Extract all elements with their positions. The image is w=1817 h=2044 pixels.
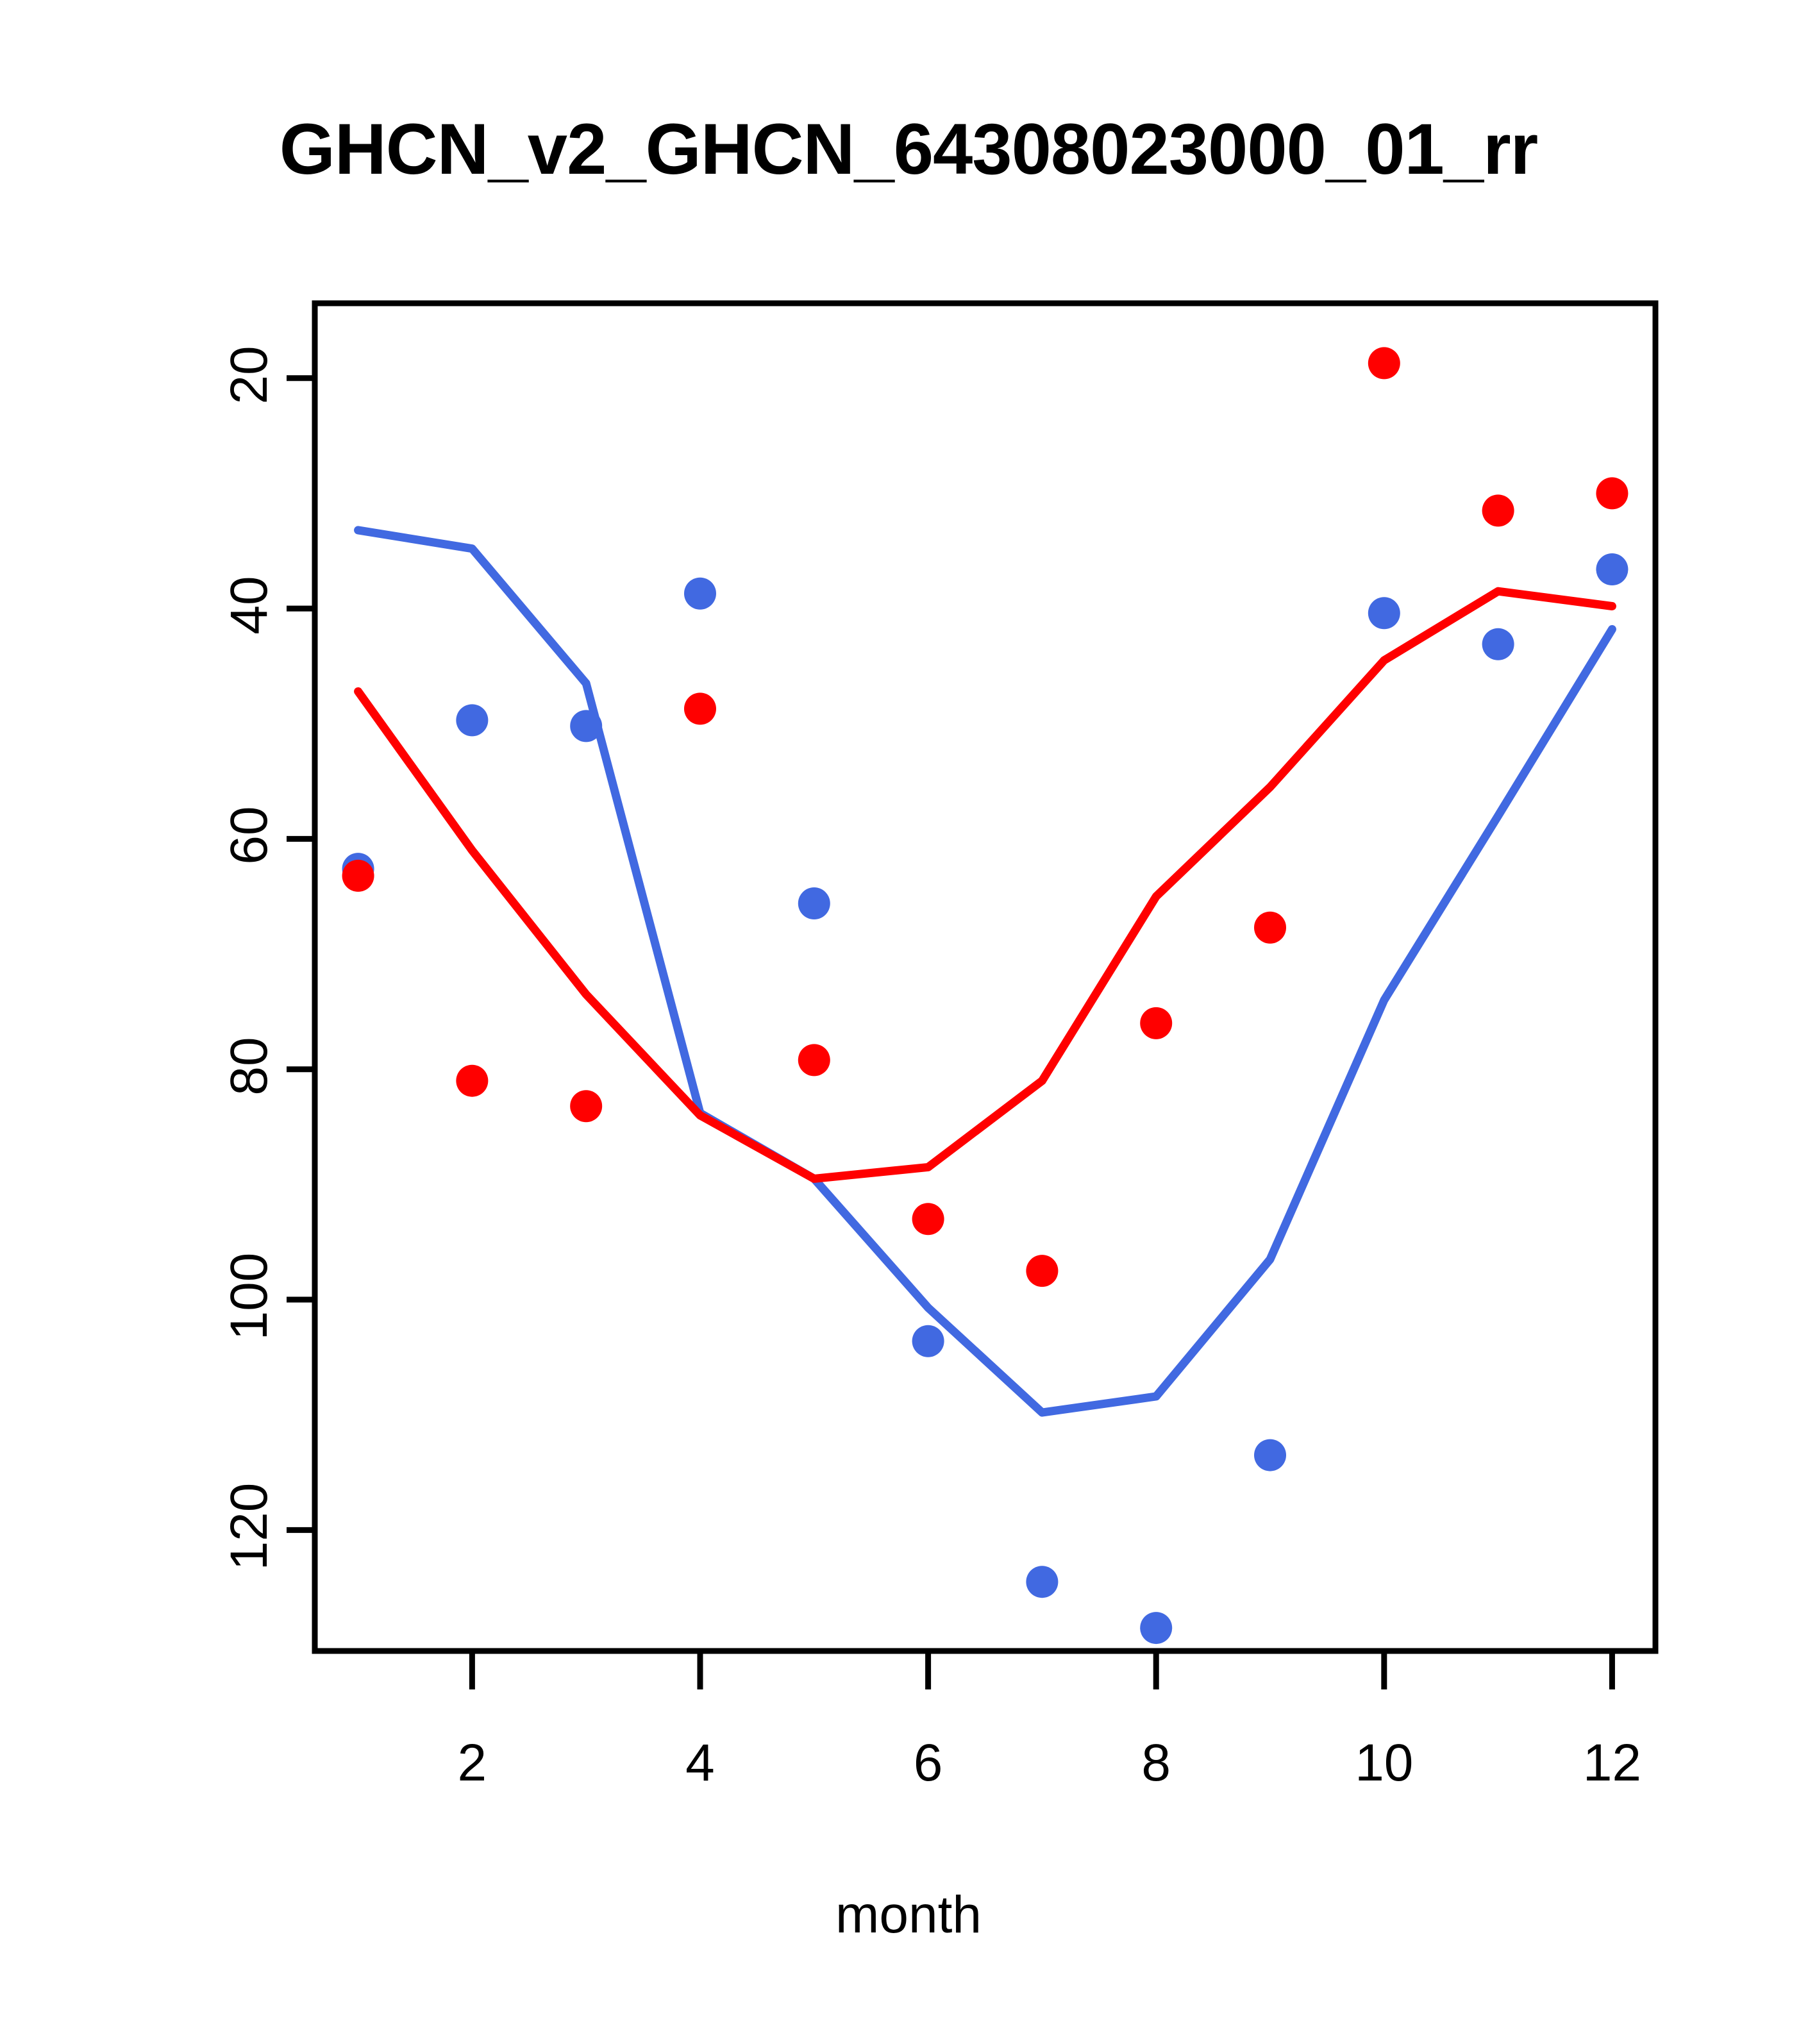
data-point [1482,628,1514,660]
data-point [1596,553,1628,585]
data-point [798,1044,830,1076]
x-tick-label: 12 [1541,1733,1682,1793]
x-tick-label: 8 [1085,1733,1227,1793]
plot-figure: GHCN_v2_GHCN_64308023000_01_rr 120100806… [0,0,1817,2044]
series-layer [342,347,1629,1644]
data-point [1254,1439,1286,1471]
data-point [342,860,374,892]
x-tick-label: 10 [1314,1733,1455,1793]
data-point [456,1065,488,1097]
data-point [1368,597,1400,629]
data-point [1026,1255,1058,1287]
x-tick-label: 2 [401,1733,542,1793]
data-point [684,578,716,610]
data-point [1026,1566,1058,1598]
x-tick-label: 4 [630,1733,771,1793]
data-point [570,710,602,742]
x-axis-label: month [0,1885,1817,1945]
y-tick-label: 60 [219,758,280,912]
blue-line [358,530,1612,1412]
data-point [1140,1612,1172,1644]
blue-points [342,553,1629,1644]
red-line [358,591,1612,1178]
data-point [1482,494,1514,526]
data-point [798,887,830,919]
y-tick-label: 100 [219,1219,280,1373]
data-point [684,692,716,725]
data-point [912,1325,944,1357]
data-point [456,704,488,736]
data-point [1596,477,1628,509]
plot-frame [315,303,1655,1651]
y-tick-label: 120 [219,1450,280,1604]
y-tick-label: 80 [219,989,280,1143]
data-point [1368,347,1400,379]
x-tick-label: 6 [858,1733,999,1793]
y-tick-label: 20 [219,298,280,452]
data-point [912,1203,944,1235]
data-point [1140,1007,1172,1039]
red-points [342,347,1629,1287]
y-axis-ticks [287,378,315,1530]
data-point [1254,912,1286,944]
y-tick-label: 40 [219,528,280,682]
data-point [570,1090,602,1122]
x-axis-ticks [472,1651,1612,1689]
